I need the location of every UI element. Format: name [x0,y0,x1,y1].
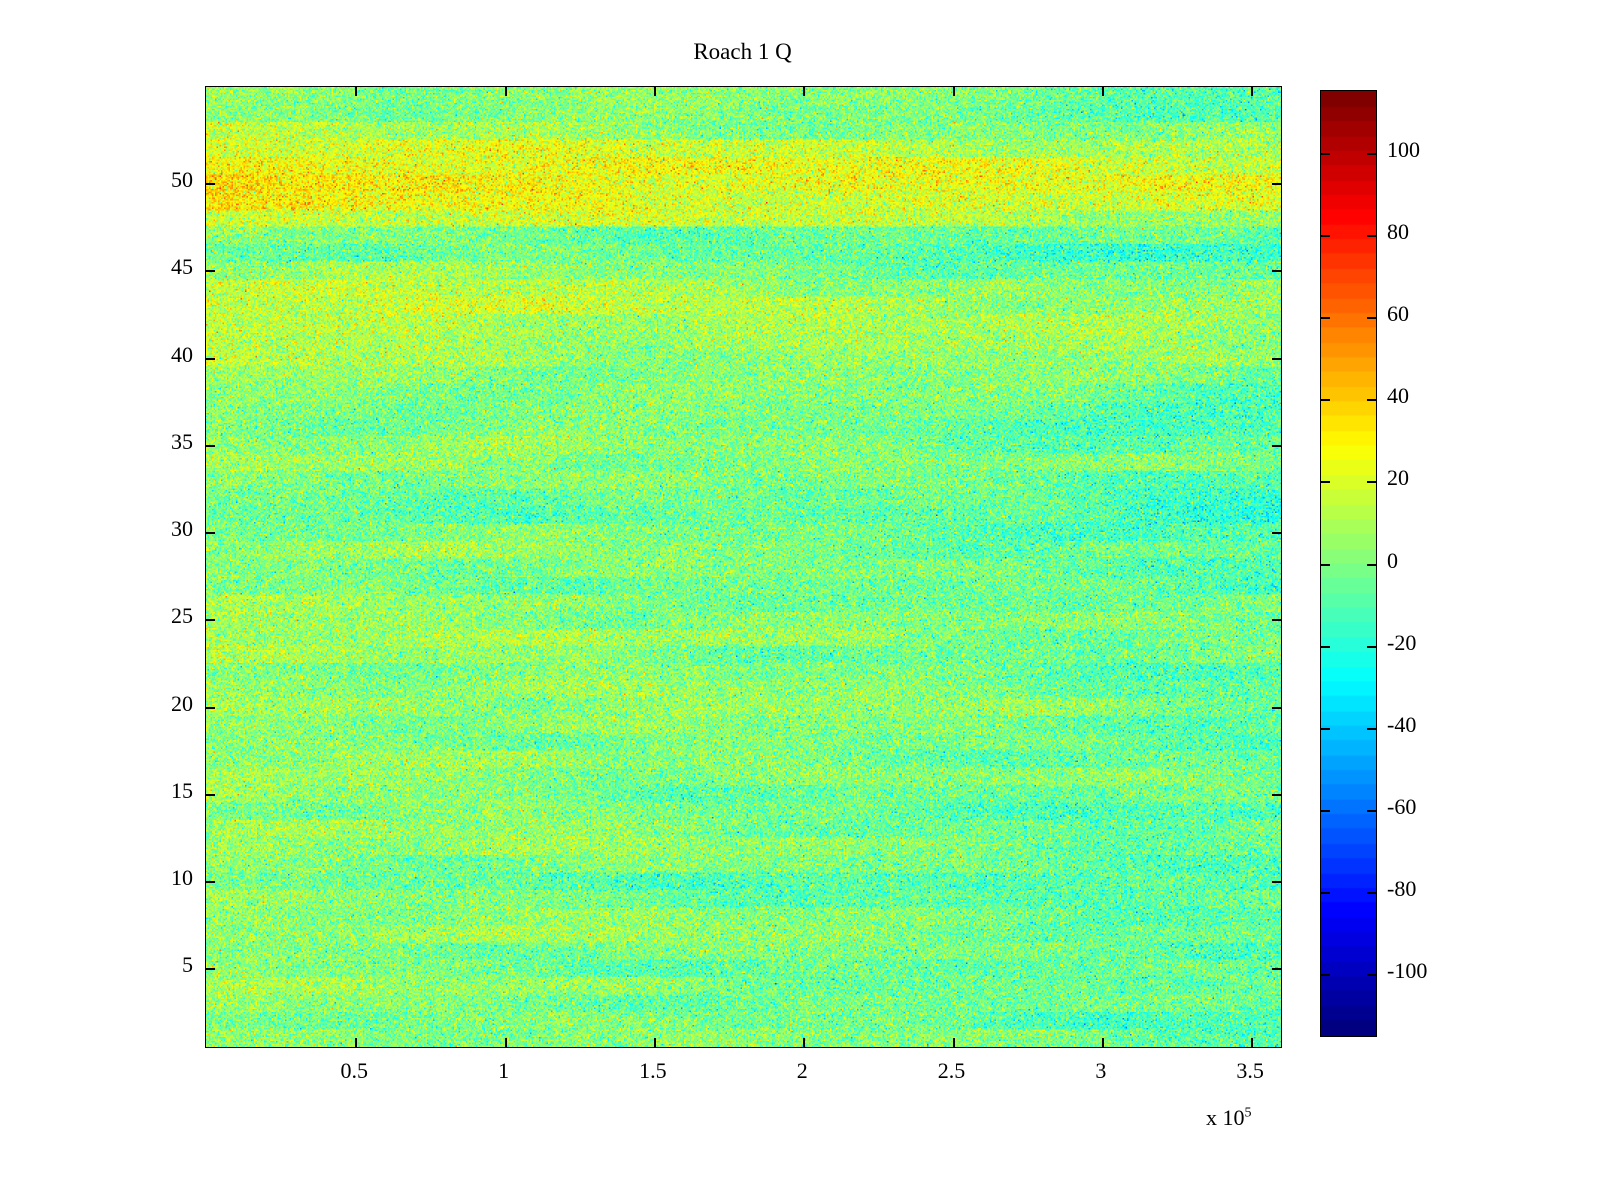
colorbar-tick-mark-left [1321,564,1330,566]
y-tick-mark [206,707,215,709]
colorbar-tick-mark-right [1367,153,1376,155]
y-tick-mark [206,270,215,272]
y-tick-mark [206,968,215,970]
colorbar-tick-label: 40 [1387,385,1409,407]
colorbar-tick-mark-right [1367,728,1376,730]
y-tick-mark-right [1272,532,1281,534]
x-tick-mark-top [505,87,507,96]
colorbar-tick-label: -80 [1387,878,1416,900]
colorbar[interactable] [1320,90,1377,1037]
y-tick-label: 5 [182,954,193,976]
x-tick-label: 2 [762,1060,842,1082]
y-tick-mark-right [1272,270,1281,272]
x-tick-mark [953,1038,955,1047]
x-tick-label: 0.5 [314,1060,394,1082]
x-tick-mark [803,1038,805,1047]
colorbar-tick-mark-right [1367,317,1376,319]
colorbar-tick-mark-right [1367,399,1376,401]
y-tick-mark-right [1272,445,1281,447]
y-tick-mark-right [1272,881,1281,883]
colorbar-tick-label: 20 [1387,467,1409,489]
x-tick-label: 3 [1061,1060,1141,1082]
x-tick-mark-top [355,87,357,96]
x-tick-mark-top [1251,87,1253,96]
x-tick-mark [505,1038,507,1047]
x-tick-mark-top [1102,87,1104,96]
x-tick-mark-top [654,87,656,96]
colorbar-tick-label: 60 [1387,303,1409,325]
y-tick-mark [206,881,215,883]
x-tick-mark [654,1038,656,1047]
colorbar-tick-label: -60 [1387,796,1416,818]
y-tick-mark-right [1272,619,1281,621]
colorbar-tick-mark-right [1367,974,1376,976]
y-tick-mark-right [1272,183,1281,185]
colorbar-tick-label: -20 [1387,632,1416,654]
colorbar-tick-mark-left [1321,153,1330,155]
x-tick-label: 1 [464,1060,544,1082]
y-tick-mark-right [1272,707,1281,709]
page-title: Roach 1 Q [205,40,1280,63]
colorbar-tick-mark-left [1321,974,1330,976]
x-tick-mark [355,1038,357,1047]
y-tick-mark-right [1272,794,1281,796]
y-tick-mark-right [1272,358,1281,360]
y-tick-mark [206,619,215,621]
x-tick-mark [1102,1038,1104,1047]
colorbar-tick-mark-left [1321,646,1330,648]
y-tick-label: 40 [171,344,193,366]
colorbar-tick-mark-left [1321,892,1330,894]
y-tick-mark-right [1272,968,1281,970]
y-tick-label: 50 [171,169,193,191]
y-tick-mark [206,183,215,185]
y-tick-label: 20 [171,693,193,715]
y-tick-mark [206,794,215,796]
y-tick-label: 25 [171,605,193,627]
x-tick-mark [1251,1038,1253,1047]
colorbar-tick-mark-left [1321,810,1330,812]
x-tick-mark-top [953,87,955,96]
x-tick-mark-top [803,87,805,96]
y-tick-mark [206,532,215,534]
y-tick-label: 10 [171,867,193,889]
colorbar-tick-mark-right [1367,564,1376,566]
y-tick-mark [206,358,215,360]
colorbar-tick-mark-right [1367,235,1376,237]
colorbar-tick-mark-left [1321,728,1330,730]
colorbar-tick-label: -40 [1387,714,1416,736]
x-tick-label: 2.5 [912,1060,992,1082]
x-axis-multiplier: x 105 [1206,1105,1252,1131]
colorbar-tick-label: 80 [1387,221,1409,243]
colorbar-tick-mark-right [1367,646,1376,648]
colorbar-tick-label: -100 [1387,960,1427,982]
y-tick-label: 45 [171,256,193,278]
colorbar-tick-mark-right [1367,810,1376,812]
x-tick-label: 1.5 [613,1060,693,1082]
colorbar-tick-mark-right [1367,892,1376,894]
figure-canvas: Roach 1 Q 5101520253035404550 0.511.522.… [0,0,1600,1200]
y-tick-label: 30 [171,518,193,540]
x-multiplier-exponent: 5 [1245,1106,1252,1121]
y-tick-mark [206,445,215,447]
heatmap-axes[interactable] [205,86,1282,1048]
colorbar-tick-mark-left [1321,399,1330,401]
colorbar-tick-mark-left [1321,235,1330,237]
colorbar-tick-label: 0 [1387,550,1398,572]
heatmap-image[interactable] [206,87,1281,1047]
colorbar-tick-mark-left [1321,481,1330,483]
y-tick-label: 35 [171,431,193,453]
colorbar-tick-mark-left [1321,317,1330,319]
x-tick-label: 3.5 [1210,1060,1290,1082]
y-tick-label: 15 [171,780,193,802]
colorbar-tick-label: 100 [1387,139,1420,161]
colorbar-tick-mark-right [1367,481,1376,483]
